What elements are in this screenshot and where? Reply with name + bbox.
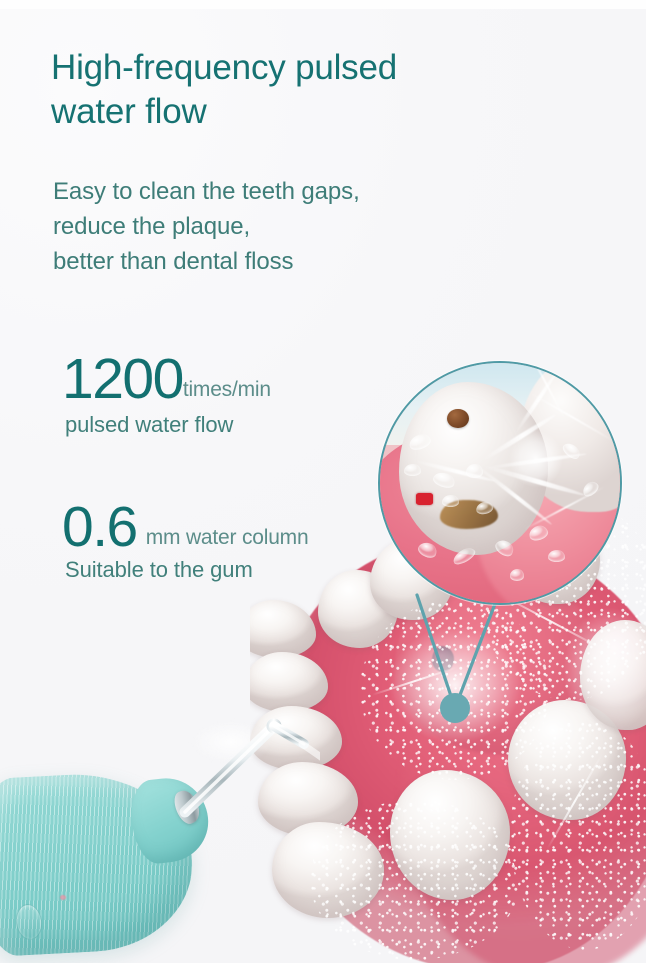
magnifier-callout-group — [0, 0, 650, 963]
magnifier-circle-icon — [378, 361, 622, 605]
water-droplet — [510, 569, 524, 581]
right-white-strip — [646, 0, 650, 963]
magnified-cavity — [447, 409, 469, 428]
water-droplet — [442, 495, 459, 507]
focus-point-dot-icon — [440, 693, 470, 723]
water-droplet — [548, 550, 565, 562]
water-droplet — [466, 464, 483, 478]
magnified-inflammation — [416, 493, 433, 505]
product-feature-banner: High-frequency pulsed water flow Easy to… — [0, 0, 650, 963]
water-droplet — [404, 464, 421, 476]
